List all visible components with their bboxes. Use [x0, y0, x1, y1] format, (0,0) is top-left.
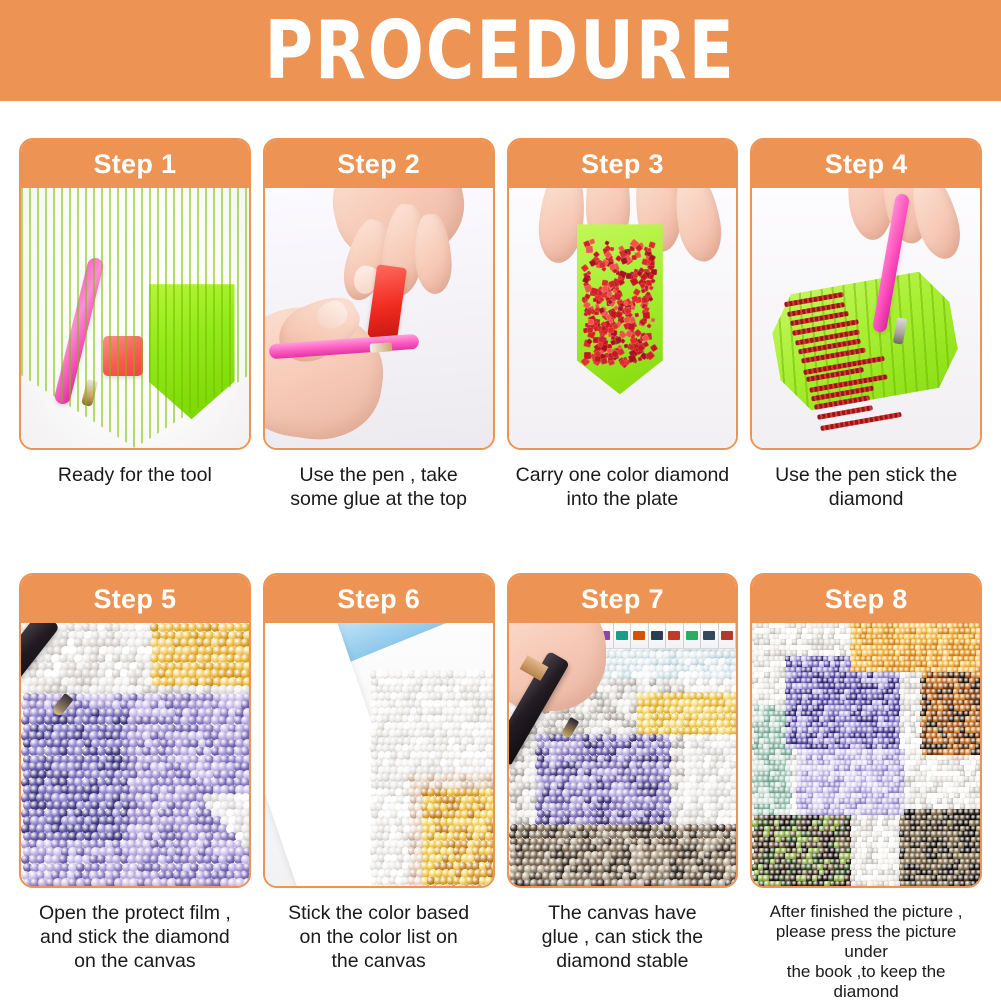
step-header-4: Step 4 [752, 140, 980, 188]
step-card-3[interactable]: Step 3 [507, 138, 739, 450]
scene-tool-kit [21, 188, 249, 448]
legend-cell [719, 623, 737, 648]
diamond-bead [608, 360, 615, 367]
scene-finished-picture [752, 623, 980, 886]
page-title: PROCEDURE [265, 11, 736, 91]
step-photo-2 [265, 188, 493, 448]
step-cell-8: Step 8 After finished the picture , plea… [750, 573, 982, 1001]
steps-row-bottom: Step 5 Open the protect film , and stick… [19, 573, 982, 1001]
diamond-bead [593, 298, 597, 302]
steps-grid: Step 1 Ready for the tool [0, 101, 1001, 1001]
step-photo-3 [509, 188, 737, 448]
diamond-bead [595, 356, 601, 362]
step-cell-4: Step 4 [750, 138, 982, 512]
green-tray-icon [577, 224, 663, 394]
procedure-infographic: PROCEDURE Step 1 [0, 0, 1001, 1001]
scene-pour-diamonds [509, 188, 737, 448]
diamond-bead [650, 318, 655, 323]
diamond-bead [586, 246, 593, 253]
legend-cell [666, 623, 684, 648]
beaded-canvas [21, 623, 249, 886]
bead [243, 878, 249, 886]
step-photo-8 [752, 623, 980, 886]
legend-swatch [721, 631, 733, 640]
diamond-bead [620, 302, 624, 306]
diamond-bead [612, 269, 617, 274]
diamond-bead [642, 296, 649, 303]
scene-stick-on-canvas [21, 623, 249, 886]
diamond-bead [602, 340, 608, 346]
step-card-8[interactable]: Step 8 [750, 573, 982, 888]
step-header-6: Step 6 [265, 575, 493, 623]
legend-swatch [651, 631, 663, 640]
red-diamonds-group [577, 224, 663, 394]
legend-swatch [616, 631, 628, 640]
legend-swatch [686, 631, 698, 640]
step-caption-2: Use the pen , take some glue at the top [263, 464, 495, 512]
step-cell-3: Step 3 Carry [507, 138, 739, 512]
step-card-5[interactable]: Step 5 [19, 573, 251, 888]
steps-row-top: Step 1 Ready for the tool [19, 138, 982, 512]
step-cell-2: Step 2 [263, 138, 495, 512]
step-caption-1: Ready for the tool [19, 464, 251, 488]
step-cell-1: Step 1 Ready for the tool [19, 138, 251, 512]
legend-cell [614, 623, 632, 648]
step-caption-4: Use the pen stick the diamond [750, 464, 982, 512]
legend-cell [631, 623, 649, 648]
diamond-bead [634, 312, 639, 317]
legend-swatch [703, 631, 715, 640]
step-card-6[interactable]: Step 6 [263, 573, 495, 888]
step-cell-6: Step 6 Stick the color based on the colo… [263, 573, 495, 1001]
legend-cell [684, 623, 702, 648]
step-caption-6: Stick the color based on the color list … [263, 902, 495, 973]
step-card-2[interactable]: Step 2 [263, 138, 495, 450]
diamond-bead [599, 262, 606, 269]
step-header-3: Step 3 [509, 140, 737, 188]
step-caption-5: Open the protect film , and stick the di… [19, 902, 251, 973]
step-header-8: Step 8 [752, 575, 980, 623]
step-card-4[interactable]: Step 4 [750, 138, 982, 450]
scene-pick-diamond [752, 188, 980, 448]
legend-swatch [633, 631, 645, 640]
diamond-bead [632, 255, 637, 260]
diamond-bead [651, 269, 657, 275]
step-header-7: Step 7 [509, 575, 737, 623]
diamond-bead [584, 352, 591, 359]
step-photo-1 [21, 188, 249, 448]
step-photo-5 [21, 623, 249, 886]
diamond-bead [648, 296, 653, 301]
legend-swatch [668, 631, 680, 640]
diamond-bead [600, 357, 608, 365]
bead [487, 884, 493, 886]
step-photo-6 [265, 623, 493, 886]
legend-cell [701, 623, 719, 648]
scene-glue-canvas [509, 623, 737, 886]
beaded-canvas [370, 670, 493, 886]
step-header-2: Step 2 [265, 140, 493, 188]
step-photo-4 [752, 188, 980, 448]
step-caption-7: The canvas have glue , can stick the dia… [507, 902, 739, 973]
bead [731, 879, 736, 886]
diamond-bead [610, 247, 614, 251]
legend-cell [649, 623, 667, 648]
step-header-5: Step 5 [21, 575, 249, 623]
step-header-1: Step 1 [21, 140, 249, 188]
diamond-bead [648, 285, 654, 291]
diamond-bead [637, 356, 642, 361]
beaded-canvas [752, 623, 980, 886]
diamond-bead [642, 318, 646, 322]
step-caption-3: Carry one color diamond into the plate [507, 464, 739, 512]
diamond-bead [589, 239, 595, 245]
scene-take-glue [265, 188, 493, 448]
step-cell-5: Step 5 Open the protect film , and stick… [19, 573, 251, 1001]
step-cell-7: Step 7 The canvas have glue , can stick … [507, 573, 739, 1001]
step-card-1[interactable]: Step 1 [19, 138, 251, 450]
scene-color-chart [265, 623, 493, 886]
step-photo-7 [509, 623, 737, 886]
diamond-bead [647, 323, 653, 329]
pen-tip-icon [369, 342, 392, 353]
step-card-7[interactable]: Step 7 [507, 573, 739, 888]
page-banner: PROCEDURE [0, 0, 1001, 101]
